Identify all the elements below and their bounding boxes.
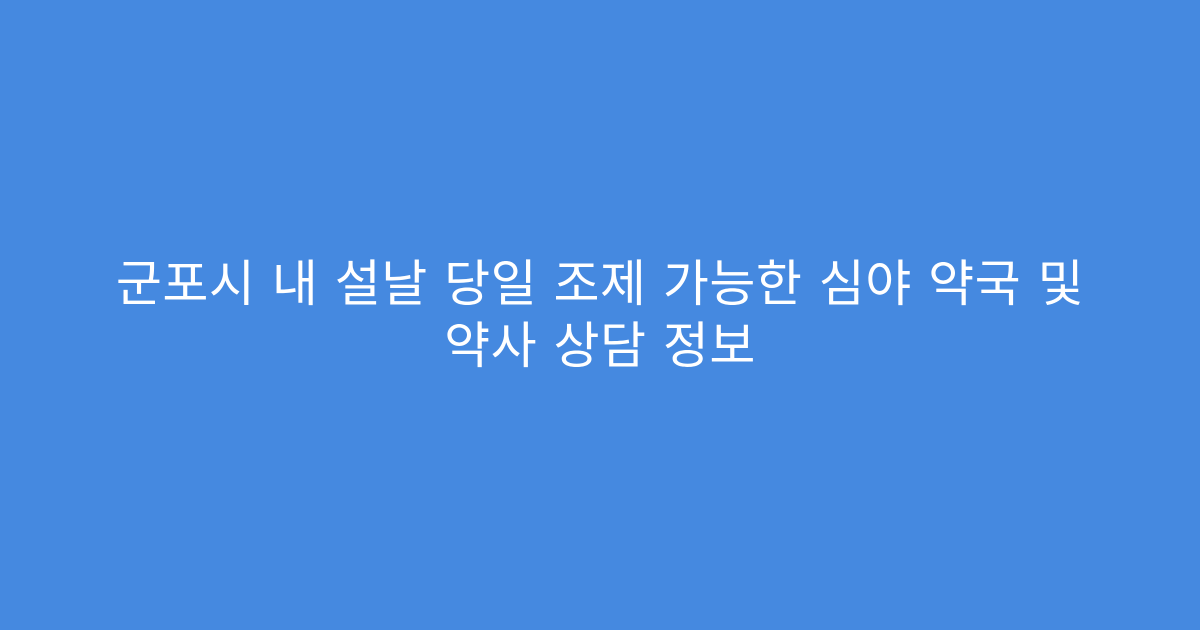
page-title: 군포시 내 설날 당일 조제 가능한 심야 약국 및 약사 상담 정보	[68, 253, 1132, 377]
title-block: 군포시 내 설날 당일 조제 가능한 심야 약국 및 약사 상담 정보	[60, 253, 1140, 377]
og-banner: 군포시 내 설날 당일 조제 가능한 심야 약국 및 약사 상담 정보	[0, 0, 1200, 630]
